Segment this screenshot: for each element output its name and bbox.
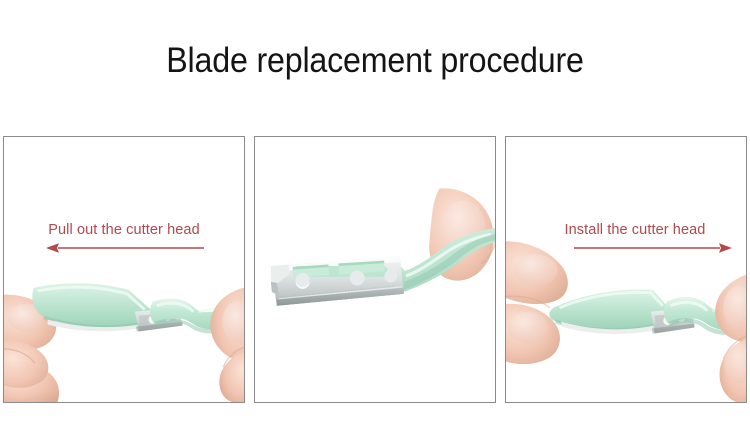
panel-pull-out: Pull out the cutter head — [3, 136, 245, 403]
panel-install: Install the cutter head — [505, 136, 747, 403]
page-title: Blade replacement procedure — [30, 40, 720, 82]
panel-blade-detail — [254, 136, 496, 403]
photo-pull-out-cutter-head — [4, 137, 244, 402]
photo-cutter-head-detail — [255, 137, 495, 402]
photo-install-cutter-head — [506, 137, 746, 402]
procedure-panel-strip: Pull out the cutter head — [3, 136, 747, 403]
